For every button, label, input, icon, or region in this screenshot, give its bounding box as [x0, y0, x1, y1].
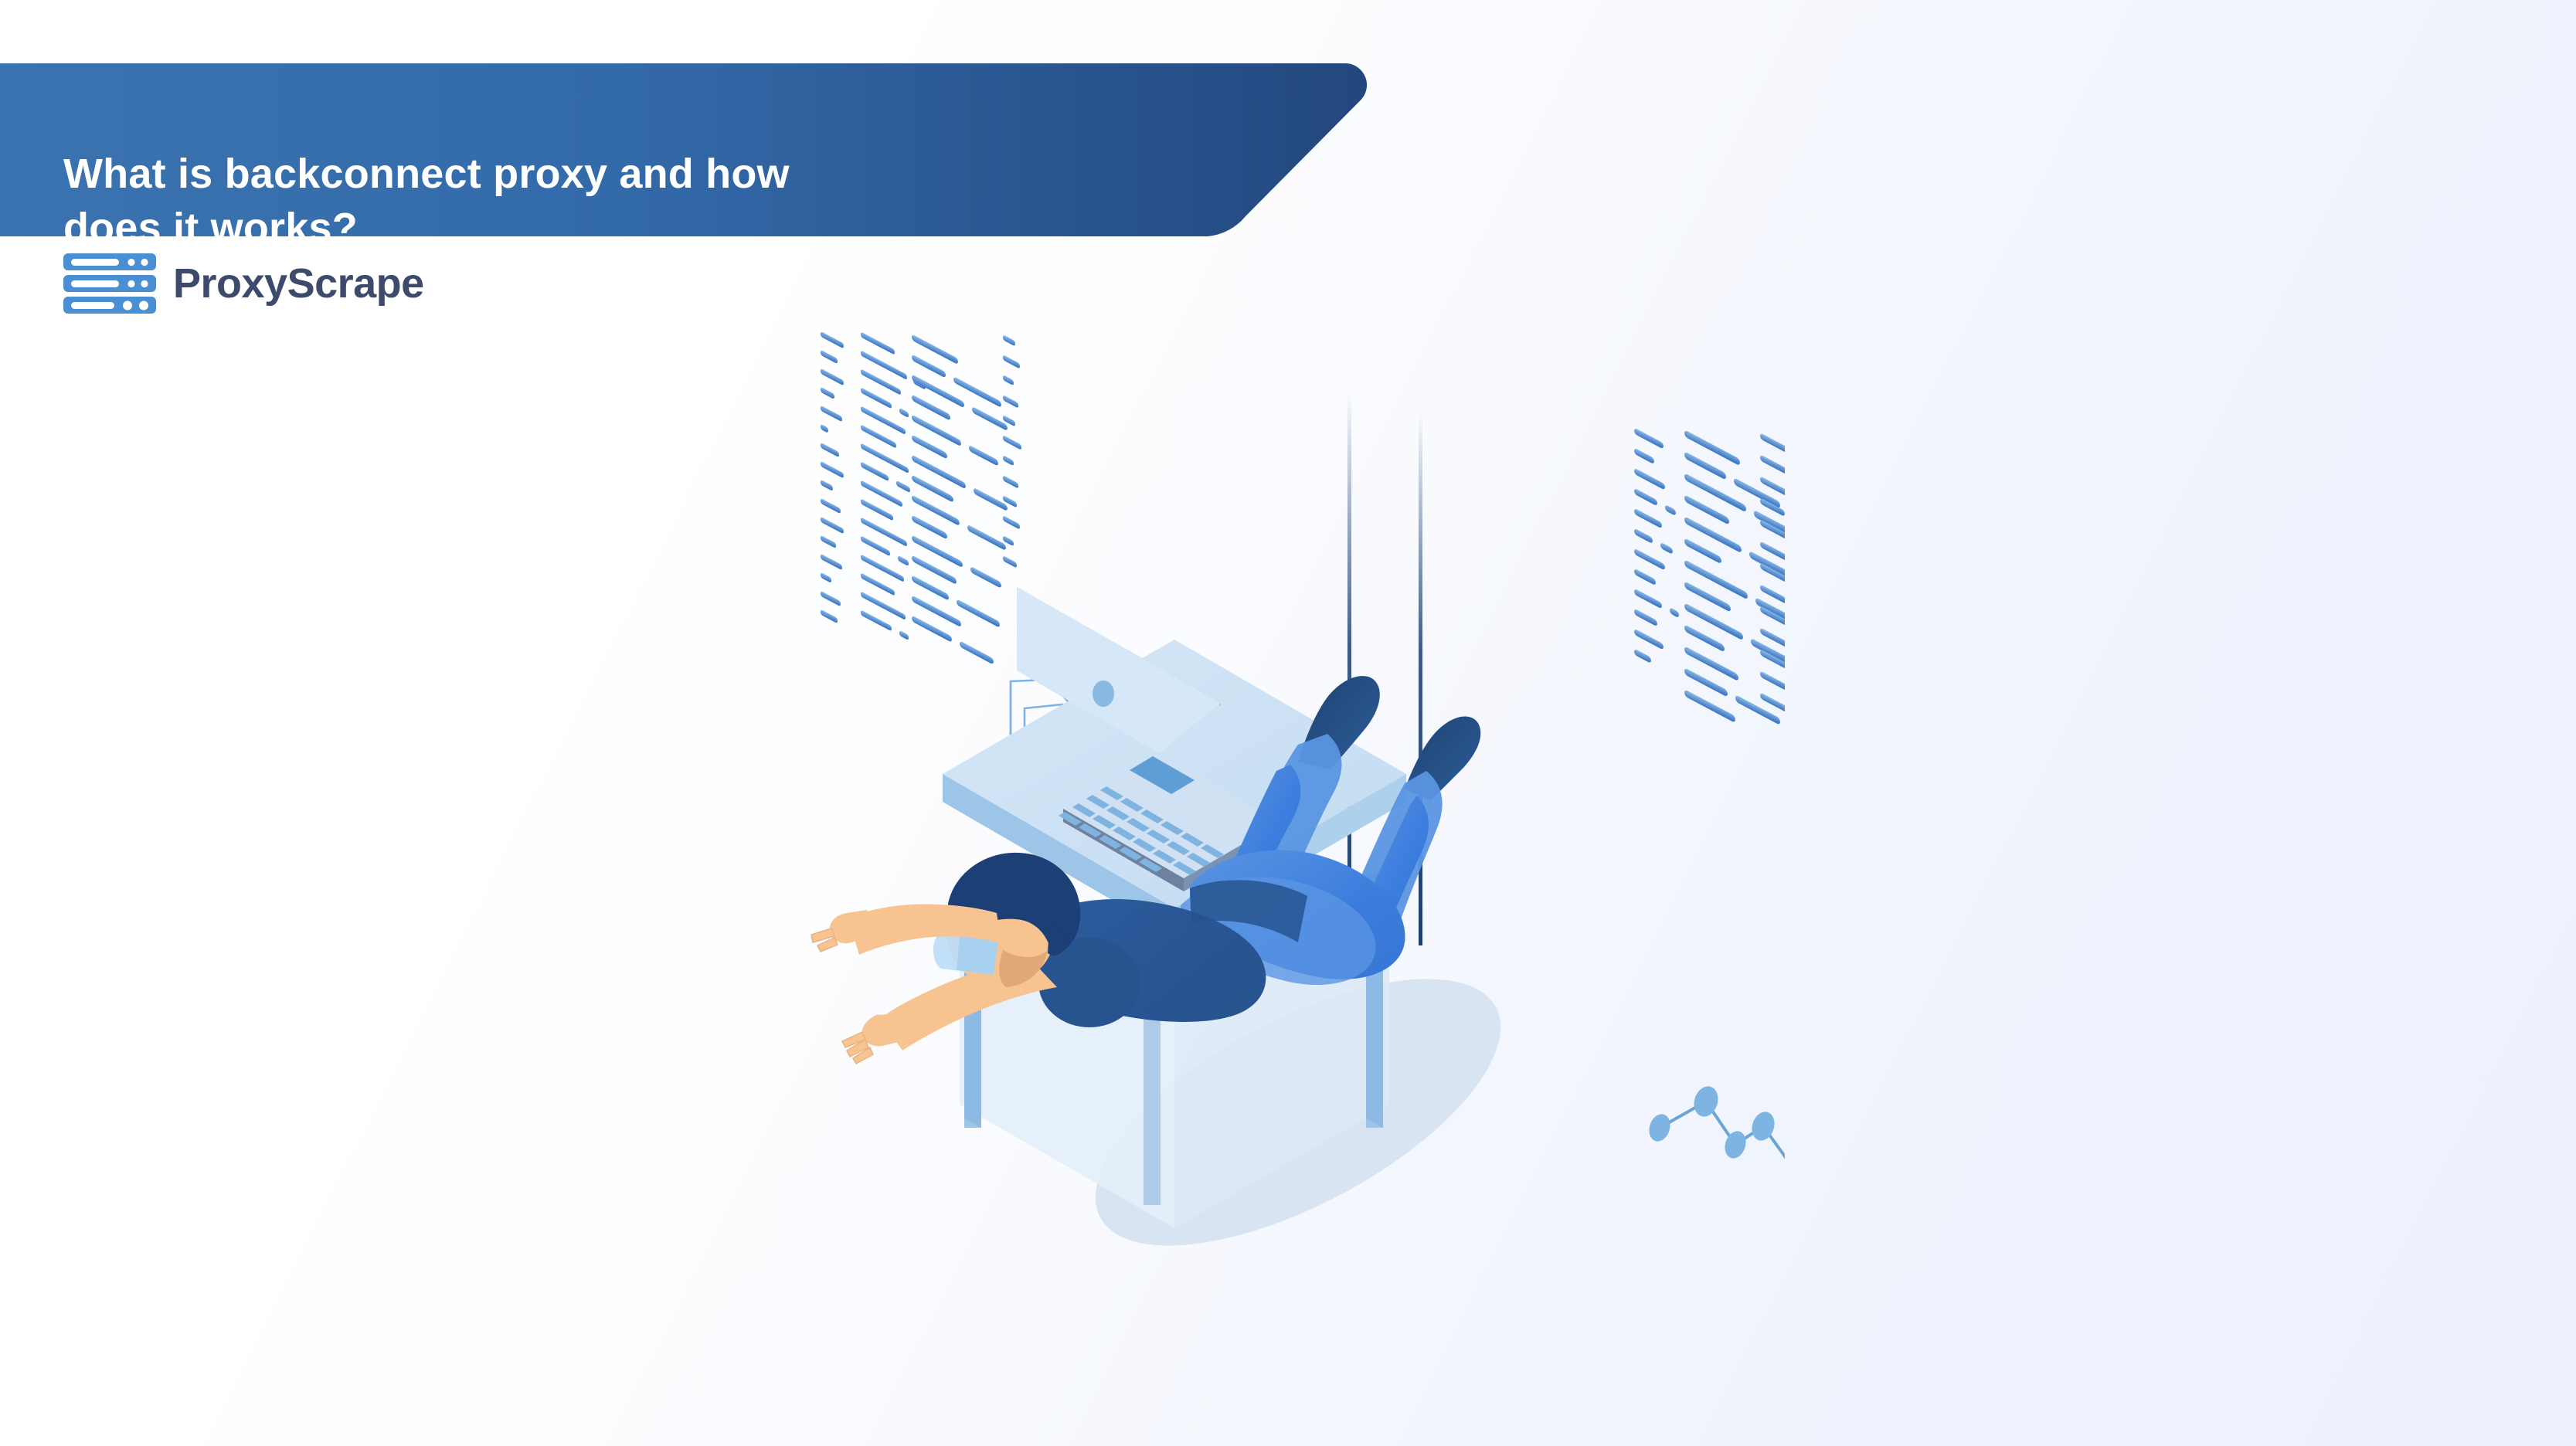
header-banner: What is backconnect proxy and how does i…: [0, 63, 1368, 236]
brand-wordmark: ProxyScrape: [173, 263, 424, 304]
page-root: What is backconnect proxy and how does i…: [0, 0, 2576, 1446]
hand-right: [862, 1013, 909, 1046]
server-stack-icon: [63, 253, 156, 314]
page-title: What is backconnect proxy and how does i…: [63, 147, 1068, 255]
code-block-left: [821, 332, 1021, 672]
code-block-right: [1634, 424, 1785, 752]
chart-node: [1646, 1112, 1674, 1144]
brand-logo[interactable]: ProxyScrape: [63, 253, 424, 314]
chart-node: [1721, 1129, 1749, 1161]
chart-node: [1691, 1083, 1722, 1119]
line-chart: [1646, 1083, 1785, 1203]
goggles-lens: [957, 936, 998, 975]
hero-illustration: [757, 332, 1785, 1367]
